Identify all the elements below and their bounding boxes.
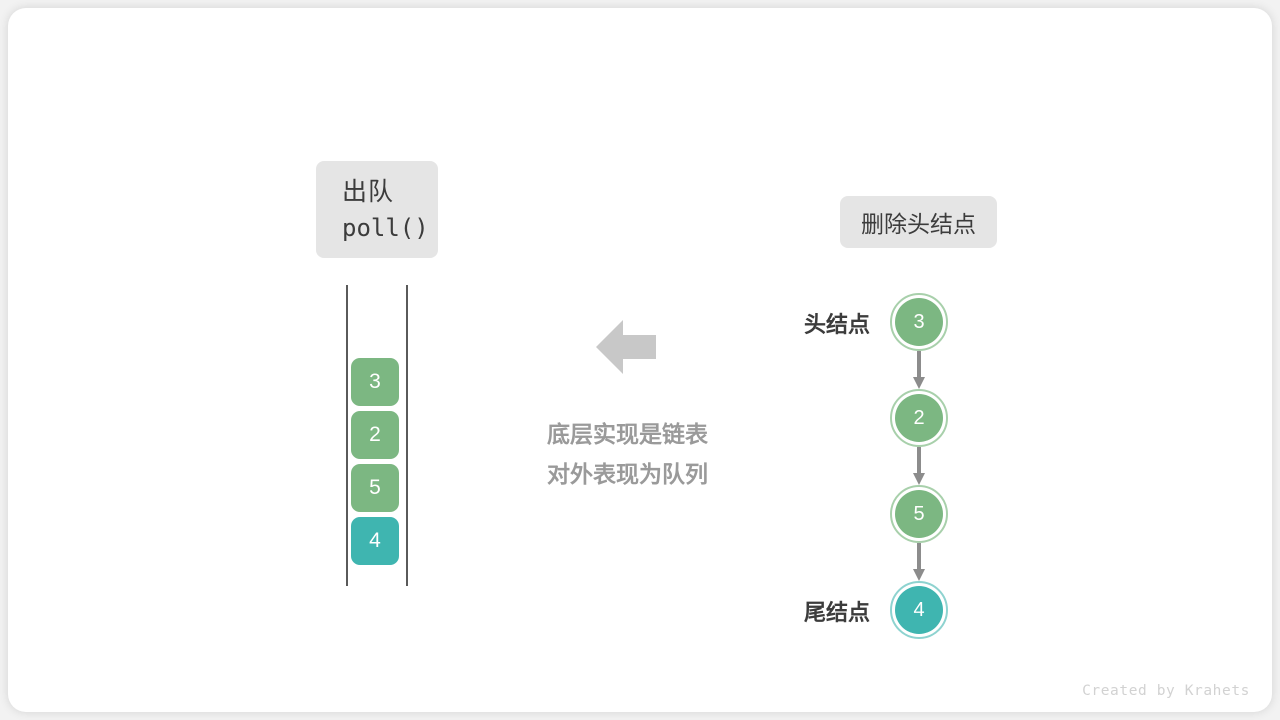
linked-list-node: 3 bbox=[895, 298, 943, 346]
operation-label-chip: 出队 poll() bbox=[316, 161, 438, 258]
queue-card-value: 3 bbox=[369, 370, 381, 394]
operation-label-line1: 出队 bbox=[342, 174, 394, 210]
center-caption-line1: 底层实现是链表 bbox=[530, 414, 725, 454]
center-caption-line2: 对外表现为队列 bbox=[530, 454, 725, 494]
center-caption: 底层实现是链表 对外表现为队列 bbox=[530, 414, 725, 494]
queue-card: 2 bbox=[351, 411, 399, 459]
queue-card: 4 bbox=[351, 517, 399, 565]
remove-head-label-text: 删除头结点 bbox=[861, 205, 976, 239]
diagram-canvas: 出队 poll() 删除头结点 3254 底层实现是链表 对外表现为队列 3头结… bbox=[0, 0, 1280, 720]
queue-card: 3 bbox=[351, 358, 399, 406]
linked-list-connector-arrow-icon bbox=[910, 543, 928, 581]
remove-head-label-chip: 删除头结点 bbox=[840, 196, 997, 248]
linked-list-connector-arrow-icon bbox=[910, 447, 928, 485]
linked-list-node-value: 3 bbox=[913, 311, 924, 334]
linked-list-node: 4 bbox=[895, 586, 943, 634]
linked-list-node: 2 bbox=[895, 394, 943, 442]
operation-label-line2: poll() bbox=[342, 210, 429, 246]
queue-card: 5 bbox=[351, 464, 399, 512]
watermark: Created by Krahets bbox=[1082, 683, 1250, 699]
queue-rail-left bbox=[346, 285, 348, 586]
linked-list-node-value: 4 bbox=[913, 599, 924, 622]
head-node-label: 头结点 bbox=[700, 307, 870, 339]
left-arrow-icon bbox=[596, 318, 656, 376]
tail-node-label: 尾结点 bbox=[700, 595, 870, 627]
linked-list-node: 5 bbox=[895, 490, 943, 538]
linked-list-connector-arrow-icon bbox=[910, 351, 928, 389]
queue-card-value: 4 bbox=[369, 529, 381, 553]
queue-card-value: 5 bbox=[369, 476, 381, 500]
linked-list-node-value: 2 bbox=[913, 407, 924, 430]
queue-rail-right bbox=[406, 285, 408, 586]
linked-list-node-value: 5 bbox=[913, 503, 924, 526]
queue-card-value: 2 bbox=[369, 423, 381, 447]
